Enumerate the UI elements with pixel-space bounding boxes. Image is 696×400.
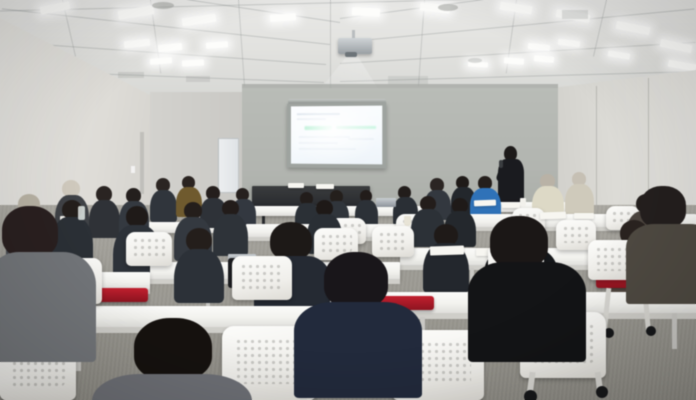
paper-handout	[502, 203, 520, 208]
chair	[126, 232, 172, 266]
water-bottle	[78, 206, 85, 220]
seminar-room-photo	[0, 0, 696, 400]
paper-cup	[404, 216, 411, 226]
chair-caster	[596, 386, 608, 398]
chair-caster	[524, 390, 537, 400]
door-frame	[140, 132, 144, 194]
light-switch[interactable]	[131, 166, 135, 173]
paper-handout	[316, 184, 334, 189]
projection-screen	[287, 103, 386, 169]
chair	[372, 226, 414, 257]
chair	[232, 256, 292, 300]
wall-panel	[218, 138, 239, 193]
paper-handout	[288, 183, 304, 188]
projection-screen-surface	[291, 106, 382, 165]
paper-handout	[540, 212, 566, 220]
paper-handout	[574, 213, 594, 219]
paper-handout	[430, 245, 464, 255]
projector-lens	[345, 52, 357, 57]
paper-cup	[520, 198, 526, 207]
paper-handout	[474, 200, 496, 207]
chair-caster	[646, 326, 656, 336]
laptop	[376, 198, 396, 207]
microphone	[499, 160, 503, 168]
